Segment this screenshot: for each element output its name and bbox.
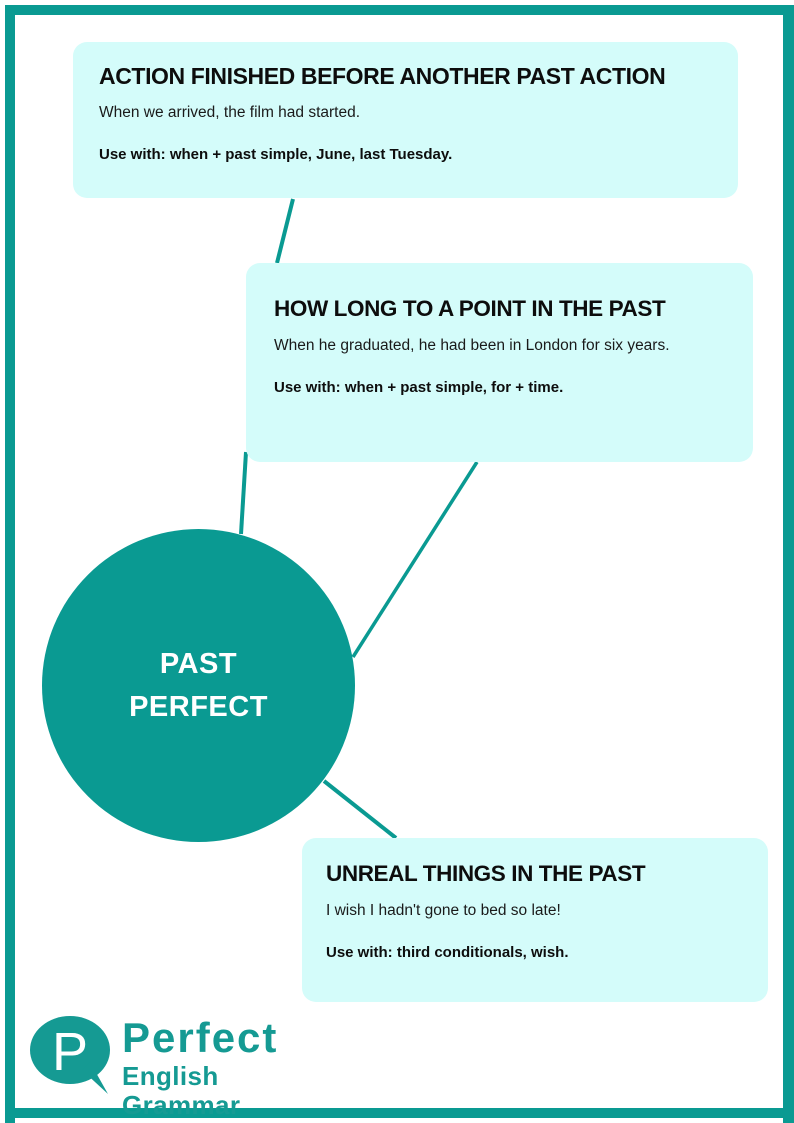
poster: ACTION FINISHED BEFORE ANOTHER PAST ACTI… bbox=[0, 0, 794, 1123]
card-use-with: Use with: when + past simple, for + time… bbox=[274, 378, 727, 398]
speech-bubble-icon: P bbox=[30, 1014, 116, 1096]
logo-word-perfect: Perfect bbox=[122, 1016, 330, 1060]
hub-label-line-1: PAST bbox=[160, 643, 237, 685]
logo-wordmark: Perfect English Grammar bbox=[122, 1016, 330, 1119]
card-title: UNREAL THINGS IN THE PAST bbox=[326, 862, 742, 887]
connector-hub-to-card2-bottom bbox=[353, 462, 477, 657]
card-how-long-to-a-point-in-the-past[interactable]: HOW LONG TO A POINT IN THE PAST When he … bbox=[246, 263, 753, 462]
card-example: I wish I hadn't gone to bed so late! bbox=[326, 901, 742, 921]
connector-hub-to-card2-left bbox=[241, 452, 246, 534]
card-example: When he graduated, he had been in London… bbox=[274, 336, 727, 356]
logo-word-english-grammar: English Grammar bbox=[122, 1062, 330, 1119]
card-use-with: Use with: third conditionals, wish. bbox=[326, 943, 742, 963]
diagram-canvas: ACTION FINISHED BEFORE ANOTHER PAST ACTI… bbox=[0, 0, 794, 1123]
connector-hub-to-card3 bbox=[324, 781, 396, 838]
card-title: HOW LONG TO A POINT IN THE PAST bbox=[274, 297, 727, 322]
hub-circle-past-perfect[interactable]: PAST PERFECT bbox=[42, 529, 355, 842]
hub-label-line-2: PERFECT bbox=[129, 686, 268, 728]
logo-letter-p: P bbox=[52, 1022, 88, 1082]
card-action-finished-before-another-past-action[interactable]: ACTION FINISHED BEFORE ANOTHER PAST ACTI… bbox=[73, 42, 738, 198]
card-example: When we arrived, the film had started. bbox=[99, 103, 712, 123]
brand-logo[interactable]: P Perfect English Grammar bbox=[30, 1014, 330, 1096]
card-title: ACTION FINISHED BEFORE ANOTHER PAST ACTI… bbox=[99, 64, 712, 89]
card-use-with: Use with: when + past simple, June, last… bbox=[99, 145, 712, 165]
card-unreal-things-in-the-past[interactable]: UNREAL THINGS IN THE PAST I wish I hadn'… bbox=[302, 838, 768, 1002]
connector-card1-to-card2 bbox=[277, 199, 293, 263]
